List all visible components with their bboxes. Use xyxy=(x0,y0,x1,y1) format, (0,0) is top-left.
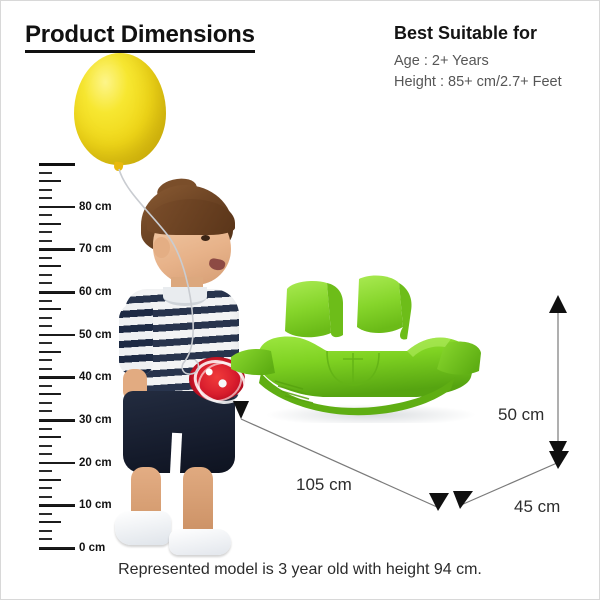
ruler-label-leader xyxy=(39,291,75,293)
ruler-minor-tick xyxy=(39,521,61,523)
toy-left-wing xyxy=(231,349,275,375)
ruler-minor-tick xyxy=(39,359,52,361)
suitable-age-line: Age : 2+ Years xyxy=(394,53,489,69)
ruler-label-leader xyxy=(39,334,75,336)
left-sneaker xyxy=(115,511,171,545)
ruler-minor-tick xyxy=(39,368,52,370)
depth-dimension-label: 45 cm xyxy=(514,497,560,517)
ruler-minor-tick xyxy=(39,342,52,344)
ruler-minor-tick xyxy=(39,428,52,430)
ruler-minor-tick xyxy=(39,172,52,174)
ruler-minor-tick xyxy=(39,513,52,515)
right-sneaker xyxy=(169,529,231,555)
ruler-minor-tick xyxy=(39,189,52,191)
suitable-height-line: Height : 85+ cm/2.7+ Feet xyxy=(394,74,562,90)
ruler-minor-tick xyxy=(39,265,61,267)
ruler-minor-tick xyxy=(39,496,52,498)
ruler-minor-tick xyxy=(39,214,52,216)
ruler-label-leader xyxy=(39,504,75,506)
best-suitable-heading: Best Suitable for xyxy=(394,23,537,44)
toy-seat-back-left xyxy=(285,281,331,337)
balloon xyxy=(74,53,166,165)
ruler-minor-tick xyxy=(39,530,52,532)
toy-seat-back-right xyxy=(357,276,403,333)
ruler-minor-tick xyxy=(39,317,52,319)
ruler-minor-tick xyxy=(39,325,52,327)
shirt-sleeve xyxy=(119,303,153,375)
ruler-label-leader xyxy=(39,206,75,208)
depth-arrowhead-end xyxy=(549,451,569,469)
ruler-minor-tick xyxy=(39,223,61,225)
height-arrowhead-bottom xyxy=(549,441,567,459)
ruler-minor-tick xyxy=(39,257,52,259)
ruler-minor-tick xyxy=(39,351,61,353)
ruler-label-leader xyxy=(39,376,75,378)
ruler-minor-tick xyxy=(39,470,52,472)
height-dimension-label: 50 cm xyxy=(498,405,544,425)
ruler-minor-tick xyxy=(39,393,61,395)
ruler-major-tick xyxy=(39,163,75,166)
ruler-label-leader xyxy=(39,248,75,250)
ruler-minor-tick xyxy=(39,231,52,233)
ruler-label-leader xyxy=(39,419,75,421)
ruler-minor-tick xyxy=(39,240,52,242)
ruler-minor-tick xyxy=(39,410,52,412)
ruler-minor-tick xyxy=(39,538,52,540)
balloon-knot-icon xyxy=(113,161,123,171)
ruler-minor-tick xyxy=(39,436,61,438)
eye xyxy=(201,235,210,241)
ruler-minor-tick xyxy=(39,487,52,489)
ruler-label-leader xyxy=(39,462,75,464)
ruler-minor-tick xyxy=(39,180,61,182)
ruler-minor-tick xyxy=(39,402,52,404)
page-title: Product Dimensions xyxy=(25,21,255,53)
ruler-minor-tick xyxy=(39,453,52,455)
shirt-collar xyxy=(163,287,207,306)
ear xyxy=(153,237,170,258)
ruler-minor-tick xyxy=(39,308,61,310)
ruler-minor-tick xyxy=(39,282,52,284)
depth-arrowhead-start xyxy=(453,491,473,509)
length-dimension-label: 105 cm xyxy=(296,475,352,495)
rocker-toy xyxy=(231,273,481,423)
sleeve-stripes xyxy=(119,303,153,375)
ruler-minor-tick xyxy=(39,274,52,276)
length-arrowhead-end xyxy=(429,493,449,511)
ruler-label-leader xyxy=(39,547,75,549)
ruler-minor-tick xyxy=(39,300,52,302)
ruler-minor-tick xyxy=(39,385,52,387)
height-arrowhead-top xyxy=(549,295,567,313)
ruler-minor-tick xyxy=(39,197,52,199)
product-dimensions-infographic: Product Dimensions Best Suitable for Age… xyxy=(0,0,600,600)
ruler-minor-tick xyxy=(39,445,52,447)
ruler-minor-tick xyxy=(39,479,61,481)
model-caption: Represented model is 3 year old with hei… xyxy=(1,561,599,579)
